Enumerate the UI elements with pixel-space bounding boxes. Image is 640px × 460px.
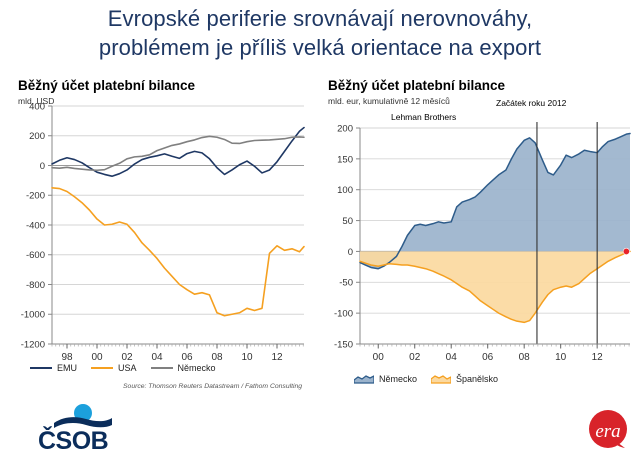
svg-text:150: 150 [337, 154, 353, 165]
right-chart-plot: 200150100500-50-100-15000020406081012 [328, 122, 636, 370]
svg-text:100: 100 [337, 185, 353, 196]
csob-logo-text: ČSOB [38, 428, 134, 454]
legend-swatch-emu [30, 367, 52, 369]
svg-text:02: 02 [409, 352, 421, 363]
page-title: Evropské periferie srovnávají nerovnováh… [0, 4, 640, 62]
svg-text:0: 0 [348, 247, 353, 258]
annotation-label-zacatek-roku-2012: Začátek roku 2012 [496, 98, 566, 108]
svg-text:50: 50 [342, 216, 353, 227]
svg-text:98: 98 [61, 352, 73, 363]
title-line-1: Evropské periferie srovnávají nerovnováh… [108, 6, 532, 31]
legend-swatch-nemecko [151, 367, 173, 369]
annotation-label-lehman-brothers: Lehman Brothers [391, 112, 456, 122]
svg-text:-400: -400 [26, 220, 45, 231]
svg-text:10: 10 [241, 352, 253, 363]
svg-text:12: 12 [271, 352, 283, 363]
legend-item-spanelsko-area[interactable]: Španělsko [431, 374, 498, 384]
csob-logo: ČSOB [38, 404, 134, 456]
svg-text:-600: -600 [26, 250, 45, 261]
era-logo: era [586, 408, 632, 454]
left-chart-svg: 4002000-200-400-600-800-1000-12009800020… [18, 100, 308, 370]
svg-text:-800: -800 [26, 280, 45, 291]
svg-text:-100: -100 [334, 309, 353, 320]
svg-text:02: 02 [121, 352, 133, 363]
legend-item-emu[interactable]: EMU [30, 363, 77, 373]
svg-text:-1000: -1000 [21, 310, 45, 321]
svg-text:400: 400 [29, 101, 45, 112]
slide-root: Evropské periferie srovnávají nerovnováh… [0, 0, 640, 460]
svg-text:12: 12 [592, 352, 604, 363]
title-line-2: problémem je příliš velká orientace na e… [0, 33, 640, 62]
left-chart-panel: Běžný účet platební bilance mld. USD 400… [18, 78, 308, 408]
right-chart-title: Běžný účet platební bilance [328, 78, 636, 93]
svg-text:10: 10 [555, 352, 567, 363]
svg-text:200: 200 [29, 131, 45, 142]
svg-text:04: 04 [151, 352, 163, 363]
svg-text:00: 00 [91, 352, 103, 363]
legend-item-usa[interactable]: USA [91, 363, 137, 373]
legend-label-spanelsko-area: Španělsko [456, 374, 498, 384]
right-chart-svg: 200150100500-50-100-15000020406081012 [328, 122, 636, 370]
era-logo-text: era [595, 421, 620, 442]
legend-wave-nemecko [354, 374, 374, 384]
svg-text:04: 04 [446, 352, 458, 363]
svg-text:08: 08 [519, 352, 531, 363]
legend-swatch-usa [91, 367, 113, 369]
right-chart-legend: Německo Španělsko [354, 374, 512, 384]
svg-text:-1200: -1200 [21, 339, 45, 350]
svg-text:00: 00 [373, 352, 385, 363]
svg-text:200: 200 [337, 123, 353, 134]
left-chart-title: Běžný účet platební bilance [18, 78, 308, 93]
svg-text:06: 06 [181, 352, 193, 363]
era-logo-icon: era [586, 408, 632, 454]
legend-label-emu: EMU [57, 363, 77, 373]
legend-label-usa: USA [118, 363, 137, 373]
legend-label-nemecko: Německo [178, 363, 216, 373]
svg-text:-50: -50 [339, 278, 353, 289]
legend-label-nemecko-area: Německo [379, 374, 417, 384]
svg-text:06: 06 [482, 352, 494, 363]
svg-text:-150: -150 [334, 339, 353, 350]
svg-text:-200: -200 [26, 191, 45, 202]
svg-text:0: 0 [40, 161, 45, 172]
svg-text:08: 08 [211, 352, 223, 363]
legend-item-nemecko[interactable]: Německo [151, 363, 216, 373]
left-chart-legend: EMU USA Německo [30, 363, 230, 373]
left-chart-plot: 4002000-200-400-600-800-1000-12009800020… [18, 100, 308, 370]
right-chart-subtitle: mld. eur, kumulativně 12 měsíců [328, 96, 636, 106]
legend-wave-spanelsko [431, 374, 451, 384]
right-chart-panel: Běžný účet platební bilance mld. eur, ku… [328, 78, 636, 408]
left-chart-source: Source: Thomson Reuters Datastream / Fat… [123, 383, 302, 390]
legend-item-nemecko-area[interactable]: Německo [354, 374, 417, 384]
